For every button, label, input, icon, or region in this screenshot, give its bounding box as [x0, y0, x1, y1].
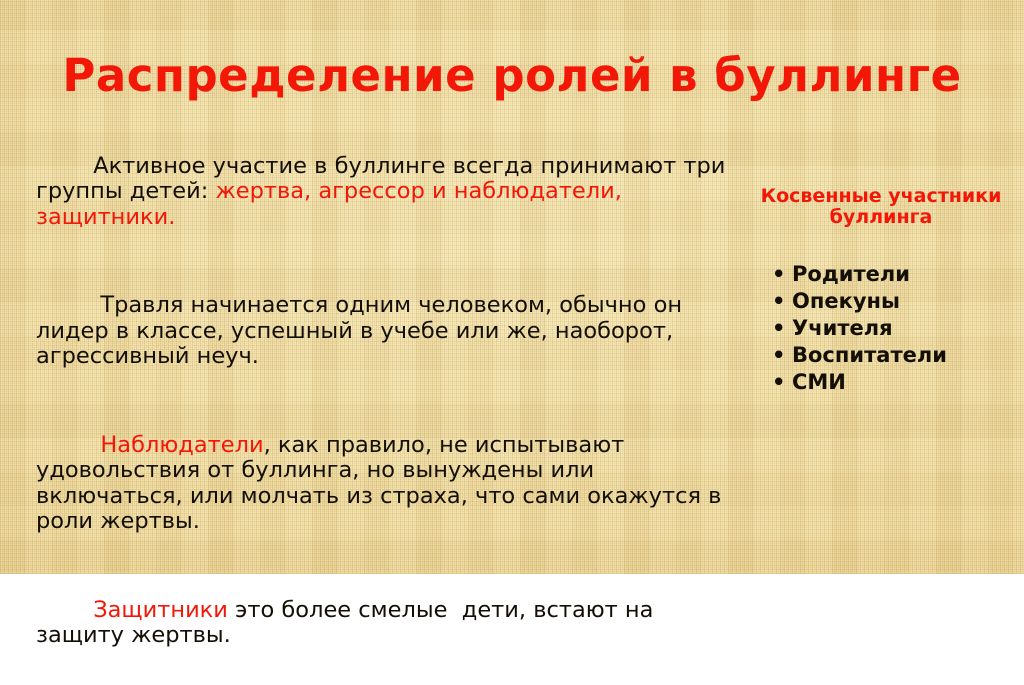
page-title: Распределение ролей в буллинге	[62, 52, 961, 99]
list-item: • Родители	[772, 262, 1020, 287]
bullet-icon: •	[772, 262, 785, 287]
list-item-label: Воспитатели	[792, 343, 947, 367]
list-item: • Учителя	[772, 316, 1020, 341]
list-item-label: Опекуны	[792, 289, 900, 313]
list-item: • СМИ	[772, 370, 1020, 395]
paragraph-defenders: Защитники это более смелые дети, встают …	[36, 572, 726, 674]
list-item: • Воспитатели	[772, 343, 1020, 368]
list-item-label: Учителя	[792, 316, 893, 340]
paragraph-roles-intro: Активное участие в буллинге всегда прини…	[36, 128, 726, 256]
run-text-highlight: Защитники	[93, 597, 228, 623]
list-item: • Опекуны	[772, 289, 1020, 314]
paragraph-observers: Наблюдатели, как правило, не испытывают …	[36, 407, 726, 560]
indirect-participants-heading: Косвенные участники буллинга	[742, 186, 1020, 228]
list-item-label: СМИ	[792, 370, 846, 394]
slide-canvas: Распределение ролей в буллинге Активное …	[0, 0, 1024, 574]
right-sidebar-column: Косвенные участники буллинга • Родители …	[742, 186, 1020, 397]
indirect-participants-list: • Родители • Опекуны • Учителя • Воспита…	[742, 262, 1020, 395]
bullet-icon: •	[772, 370, 785, 395]
paragraph-bullying-origin: Травля начинается одним человеком, обычн…	[36, 268, 726, 396]
bullet-icon: •	[772, 316, 785, 341]
bullet-icon: •	[772, 289, 785, 314]
left-text-column: Активное участие в буллинге всегда прини…	[36, 128, 726, 685]
list-item-label: Родители	[792, 262, 910, 286]
run-text-highlight: Наблюдатели	[93, 432, 263, 458]
title-bar: Распределение ролей в буллинге	[0, 22, 1024, 130]
bullet-icon: •	[772, 343, 785, 368]
run-text: Травля начинается одним человеком, обычн…	[36, 292, 689, 369]
slide-content: Активное участие в буллинге всегда прини…	[0, 128, 1024, 568]
